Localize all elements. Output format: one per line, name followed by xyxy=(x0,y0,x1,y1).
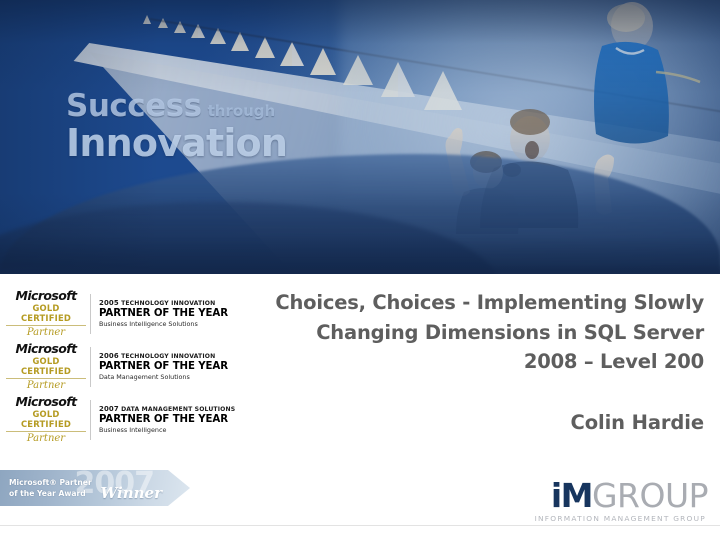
badge-divider xyxy=(90,347,91,387)
imgroup-logo: iMGROUP INFORMATION MANAGEMENT GROUP xyxy=(535,479,708,522)
microsoft-wordmark: Microsoft xyxy=(6,289,86,302)
partner-badge: Microsoft GOLD CERTIFIED Partner 2007 DA… xyxy=(6,396,211,444)
partner-of-the-year-winner-ribbon: 2007 Microsoft® Partner of the Year Awar… xyxy=(0,470,190,506)
imgroup-tagline: INFORMATION MANAGEMENT GROUP xyxy=(535,515,706,522)
award-year: 2007 xyxy=(99,405,119,413)
partner-badge-list: Microsoft GOLD CERTIFIED Partner 2005 TE… xyxy=(6,290,211,449)
winner-ribbon-label: Winner xyxy=(100,484,162,502)
award-year-category: 2006 TECHNOLOGY INNOVATION xyxy=(99,352,228,361)
partner-badge: Microsoft GOLD CERTIFIED Partner 2005 TE… xyxy=(6,290,211,338)
award-year: 2006 xyxy=(99,352,119,360)
award-text-block: 2006 TECHNOLOGY INNOVATION PARTNER OF TH… xyxy=(99,352,228,382)
footer-divider xyxy=(0,525,720,526)
slide-content-area: Microsoft GOLD CERTIFIED Partner 2005 TE… xyxy=(0,274,720,540)
title-block: Choices, Choices - Implementing Slowly C… xyxy=(214,288,704,434)
microsoft-wordmark: Microsoft xyxy=(6,395,86,408)
page-title-line-2: Changing Dimensions in SQL Server xyxy=(214,318,704,348)
award-title: PARTNER OF THE YEAR xyxy=(99,308,228,320)
banner-tagline-through: through xyxy=(208,102,276,120)
banner-bottom-edge xyxy=(0,264,720,274)
imgroup-wordmark: iMGROUP xyxy=(535,479,708,512)
gold-certified-label: GOLD CERTIFIED xyxy=(6,303,86,324)
microsoft-gold-certified-mark: Microsoft GOLD CERTIFIED Partner xyxy=(6,342,90,391)
microsoft-gold-certified-mark: Microsoft GOLD CERTIFIED Partner xyxy=(6,395,90,444)
page-title-line-3: 2008 – Level 200 xyxy=(214,347,704,377)
partner-badge: Microsoft GOLD CERTIFIED Partner 2006 TE… xyxy=(6,343,211,391)
winner-ribbon-caption-line1: Microsoft® Partner xyxy=(9,477,92,488)
microsoft-wordmark: Microsoft xyxy=(6,342,86,355)
banner-tagline-innovation: Innovation xyxy=(66,124,287,162)
imgroup-logo-im: iM xyxy=(551,476,592,515)
gold-certified-label: GOLD CERTIFIED xyxy=(6,409,86,430)
page-title-line-1: Choices, Choices - Implementing Slowly xyxy=(214,288,704,318)
award-category: TECHNOLOGY INNOVATION xyxy=(121,353,215,360)
award-year: 2005 xyxy=(99,299,119,307)
partner-label: Partner xyxy=(6,378,86,392)
presenter-name: Colin Hardie xyxy=(214,411,704,434)
award-text-block: 2005 TECHNOLOGY INNOVATION PARTNER OF TH… xyxy=(99,299,228,329)
banner-tagline: Successthrough Innovation xyxy=(66,91,287,162)
award-title: PARTNER OF THE YEAR xyxy=(99,361,228,373)
award-area: Business Intelligence Solutions xyxy=(99,320,228,329)
award-area: Data Management Solutions xyxy=(99,373,228,382)
winner-ribbon-caption-line2: of the Year Award xyxy=(9,488,92,499)
partner-label: Partner xyxy=(6,325,86,339)
badge-divider xyxy=(90,400,91,440)
partner-label: Partner xyxy=(6,431,86,445)
award-year-category: 2005 TECHNOLOGY INNOVATION xyxy=(99,299,228,308)
award-category: TECHNOLOGY INNOVATION xyxy=(121,300,215,307)
presentation-title-slide: Successthrough Innovation Microsoft GOLD… xyxy=(0,0,720,540)
gold-certified-label: GOLD CERTIFIED xyxy=(6,356,86,377)
title-banner-image: Successthrough Innovation xyxy=(0,0,720,274)
imgroup-logo-group: GROUP xyxy=(592,476,708,515)
microsoft-gold-certified-mark: Microsoft GOLD CERTIFIED Partner xyxy=(6,289,90,338)
badge-divider xyxy=(90,294,91,334)
page-title: Choices, Choices - Implementing Slowly C… xyxy=(214,288,704,377)
winner-ribbon-caption: Microsoft® Partner of the Year Award xyxy=(9,477,92,499)
banner-tagline-success: Success xyxy=(66,88,202,124)
